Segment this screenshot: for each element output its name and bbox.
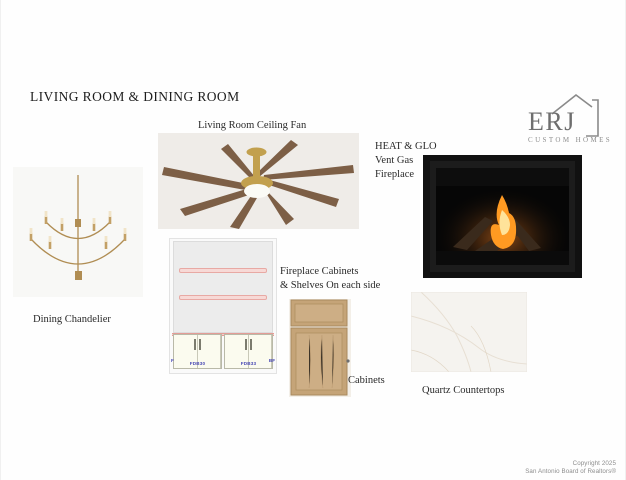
cabinet-elevation-drawing: FDB30 FDB33 F BF (169, 238, 277, 374)
door-pull-icon (199, 339, 201, 350)
elevation-upper-section (173, 241, 273, 333)
elevation-caption-line1: Fireplace Cabinets (280, 265, 358, 278)
cabinet-door-sample-image (289, 299, 351, 397)
shelf-line (179, 268, 267, 273)
elevation-edge-label-left: F (171, 358, 174, 363)
door-pull-icon (250, 339, 252, 350)
fireplace-caption-line3: Fireplace (375, 168, 414, 181)
cabinet-door-caption: Cabinets (348, 374, 385, 387)
dining-chandelier-image (13, 167, 143, 297)
copyright-line2: San Antonio Board of Realtors® (525, 468, 616, 476)
svg-text:CUSTOM HOMES: CUSTOM HOMES (528, 136, 611, 144)
elevation-caption-line2: & Shelves On each side (280, 279, 380, 292)
svg-text:ERJ: ERJ (528, 107, 576, 136)
base-cabinet-label: FDB30 (174, 361, 221, 366)
ceiling-fan-caption: Living Room Ceiling Fan (198, 119, 306, 132)
fireplace-caption-line1: HEAT & GLO (375, 140, 437, 153)
base-cabinet-row: FDB30 FDB33 (173, 334, 273, 369)
base-cabinet-unit: FDB33 (224, 334, 273, 369)
erj-logo: ERJ CUSTOM HOMES (506, 92, 611, 154)
shelf-line (179, 295, 267, 300)
door-pull-icon (245, 339, 247, 350)
base-cabinet-unit: FDB30 (173, 334, 222, 369)
slide-page: LIVING ROOM & DINING ROOM ERJ CUSTOM HOM… (0, 0, 626, 480)
page-title: LIVING ROOM & DINING ROOM (30, 89, 240, 105)
elevation-edge-label-right: BF (269, 358, 275, 363)
fireplace-caption-line2: Vent Gas (375, 154, 413, 167)
base-cabinet-label: FDB33 (225, 361, 272, 366)
quartz-sample-image (411, 292, 527, 372)
copyright-footer: Copyright 2025 San Antonio Board of Real… (525, 460, 616, 476)
door-pull-icon (194, 339, 196, 350)
fireplace-image (423, 155, 582, 278)
copyright-line1: Copyright 2025 (525, 460, 616, 468)
ceiling-fan-image (158, 133, 359, 229)
quartz-caption: Quartz Countertops (422, 384, 505, 397)
dining-chandelier-caption: Dining Chandelier (33, 313, 111, 326)
